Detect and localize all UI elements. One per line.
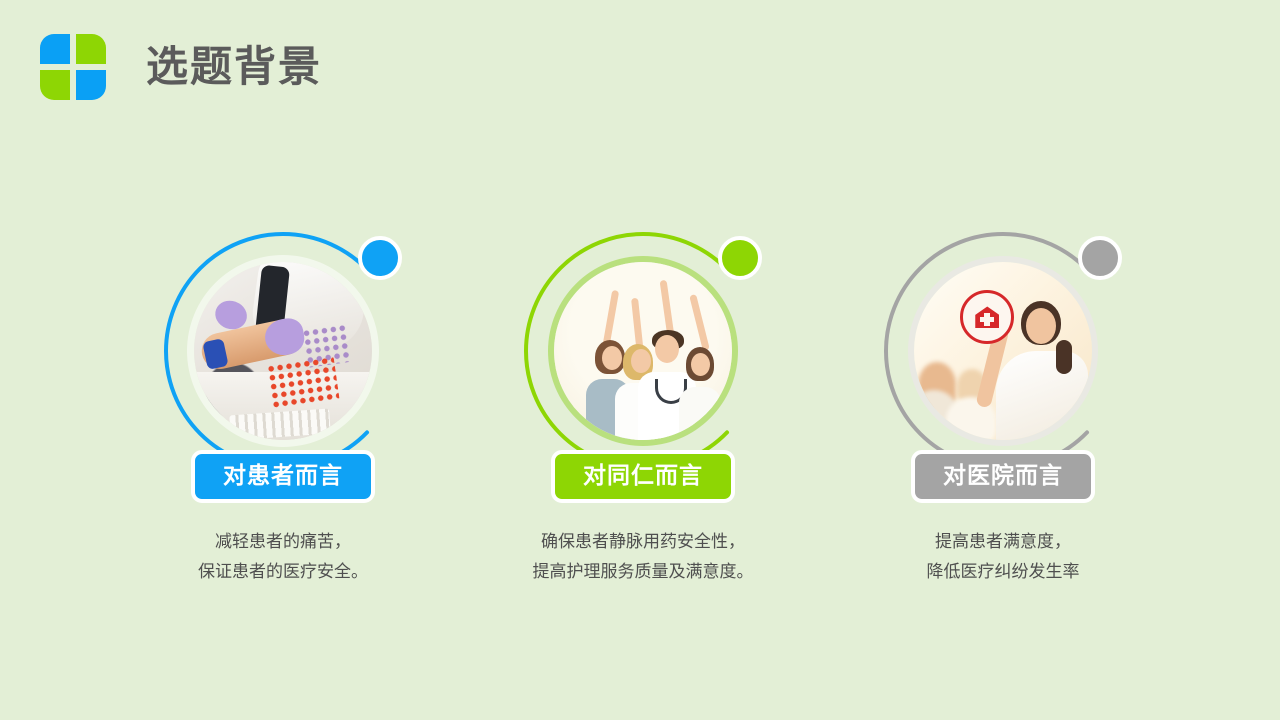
ring-group-patients [160, 228, 406, 474]
caption-patients: 减轻患者的痛苦， 保证患者的医疗安全。 [198, 527, 368, 587]
caption-line-2: 提高护理服务质量及满意度。 [533, 557, 754, 587]
label-pill-text-patients: 对患者而言 [223, 465, 343, 488]
photo-colleagues [554, 262, 732, 440]
photo-image-hospital [914, 262, 1092, 440]
ring-group-colleagues [520, 228, 766, 474]
caption-line-2: 降低医疗纠纷发生率 [927, 557, 1080, 587]
ring-knob-hospital [1078, 236, 1122, 280]
column-patients: 对患者而言 减轻患者的痛苦， 保证患者的医疗安全。 [103, 228, 463, 587]
logo-petal-bottom-left [40, 70, 70, 100]
photo-hospital [914, 262, 1092, 440]
photo-patients [194, 262, 372, 440]
column-colleagues: 对同仁而言 确保患者静脉用药安全性， 提高护理服务质量及满意度。 [463, 228, 823, 587]
caption-line-1: 提高患者满意度， [927, 527, 1080, 557]
content-columns: 对患者而言 减轻患者的痛苦， 保证患者的医疗安全。 [0, 228, 1280, 587]
label-pill-hospital[interactable]: 对医院而言 [911, 450, 1095, 503]
logo-petal-bottom-right [76, 70, 106, 100]
caption-colleagues: 确保患者静脉用药安全性， 提高护理服务质量及满意度。 [533, 527, 754, 587]
caption-line-2: 保证患者的医疗安全。 [198, 557, 368, 587]
caption-hospital: 提高患者满意度， 降低医疗纠纷发生率 [927, 527, 1080, 587]
logo-petal-top-right [76, 34, 106, 64]
label-pill-text-colleagues: 对同仁而言 [583, 465, 703, 488]
four-petal-flower-logo [40, 34, 106, 100]
caption-line-1: 减轻患者的痛苦， [198, 527, 368, 557]
ring-group-hospital [880, 228, 1126, 474]
ring-knob-patients [358, 236, 402, 280]
slide-canvas: 选题背景 [0, 0, 1280, 720]
logo-petal-top-left [40, 34, 70, 64]
slide-header: 选题背景 [40, 34, 322, 100]
photo-image-patients [194, 262, 372, 440]
label-pill-text-hospital: 对医院而言 [943, 465, 1063, 488]
label-pill-colleagues[interactable]: 对同仁而言 [551, 450, 735, 503]
column-hospital: 对医院而言 提高患者满意度， 降低医疗纠纷发生率 [823, 228, 1183, 587]
caption-line-1: 确保患者静脉用药安全性， [533, 527, 754, 557]
photo-image-colleagues [554, 262, 732, 440]
page-title: 选题背景 [146, 46, 322, 88]
label-pill-patients[interactable]: 对患者而言 [191, 450, 375, 503]
ring-knob-colleagues [718, 236, 762, 280]
